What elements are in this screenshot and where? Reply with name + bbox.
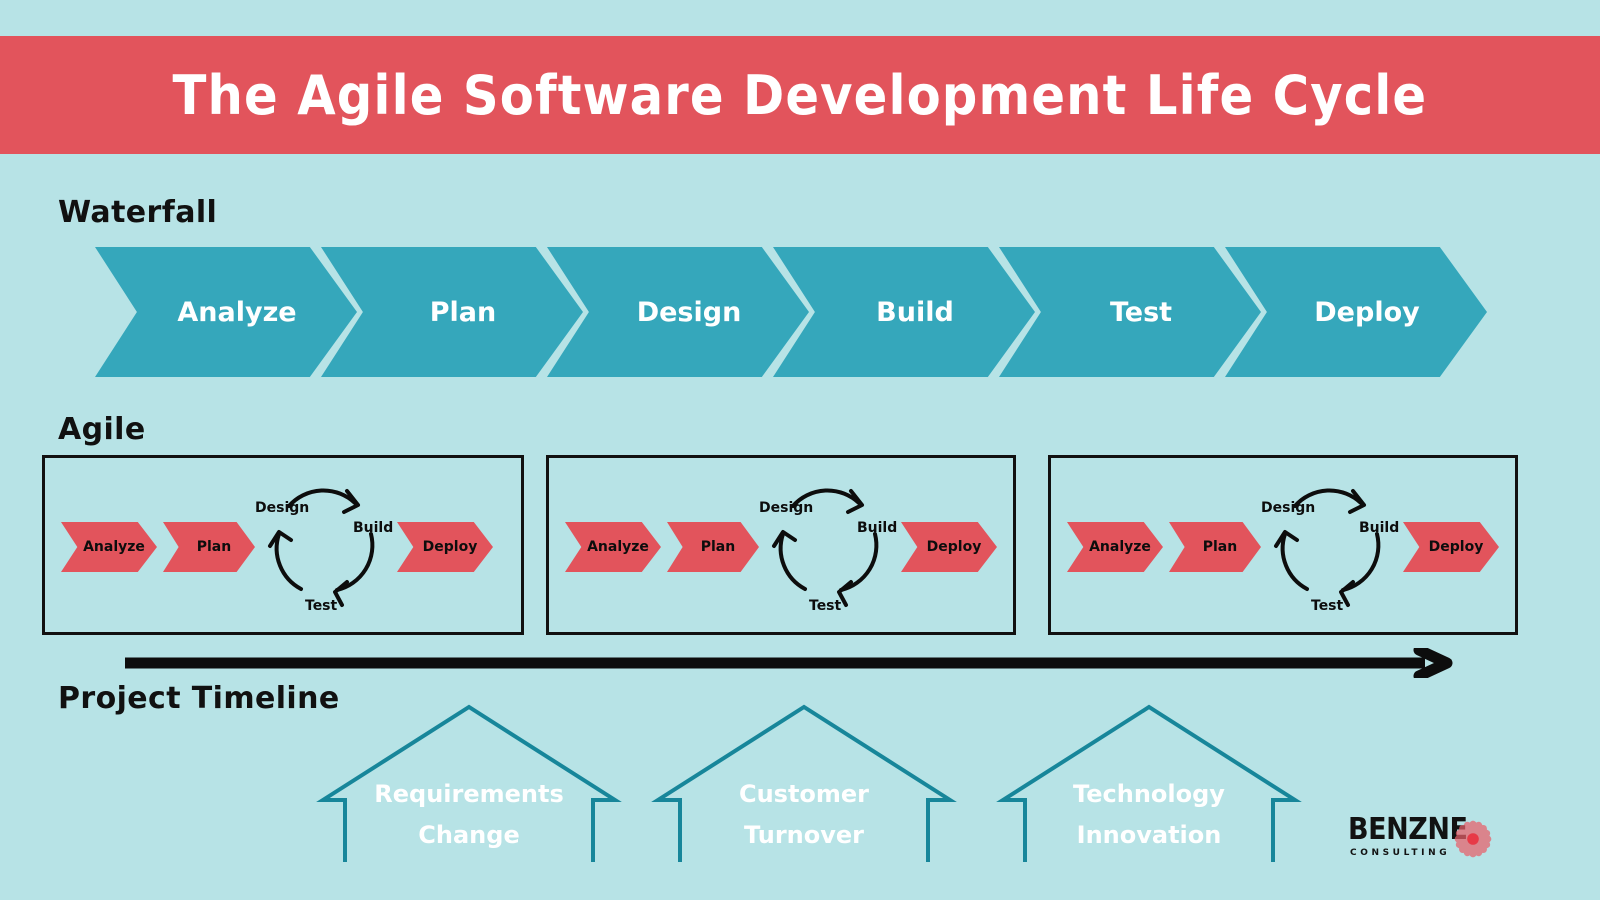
agile-step-label: Deploy: [1419, 539, 1484, 555]
agile-sprint-box[interactable]: Analyze Plan Des: [1048, 455, 1518, 635]
agile-cycle-label-design: Design: [759, 500, 813, 516]
agile-cycle-label-test: Test: [1311, 598, 1343, 614]
agile-step-deploy[interactable]: Deploy: [1403, 522, 1499, 572]
agile-cycle-label-build: Build: [1359, 520, 1399, 536]
agile-step-label: Deploy: [413, 539, 478, 555]
agile-sprint-box[interactable]: Analyze Plan Des: [546, 455, 1016, 635]
agile-step-label: Analyze: [1079, 539, 1151, 555]
waterfall-phase-label: Design: [615, 297, 742, 328]
flower-icon: [1444, 810, 1502, 868]
waterfall-phase-label: Build: [854, 297, 954, 328]
page-title: The Agile Software Development Life Cycl…: [173, 64, 1428, 127]
agile-step-plan[interactable]: Plan: [1169, 522, 1261, 572]
change-driver-arrow-technology-innovation[interactable]: Technology Innovation: [993, 702, 1305, 862]
section-heading-agile: Agile: [58, 412, 146, 447]
agile-iteration-cycle: Design Build Test: [747, 472, 907, 624]
section-heading-project-timeline: Project Timeline: [58, 681, 340, 716]
waterfall-phase-build[interactable]: Build: [773, 247, 1035, 377]
agile-step-label: Deploy: [917, 539, 982, 555]
agile-sprint-inner: Analyze Plan Des: [1051, 458, 1515, 632]
agile-step-analyze[interactable]: Analyze: [1067, 522, 1163, 572]
agile-step-deploy[interactable]: Deploy: [901, 522, 997, 572]
waterfall-phase-label: Plan: [408, 297, 497, 328]
agile-step-deploy[interactable]: Deploy: [397, 522, 493, 572]
agile-step-analyze[interactable]: Analyze: [565, 522, 661, 572]
agile-sprint-inner: Analyze Plan Des: [45, 458, 521, 632]
agile-step-label: Analyze: [577, 539, 649, 555]
project-timeline-arrow: [125, 648, 1465, 678]
brand-logo: BENZNE CONSULTING: [1348, 812, 1538, 874]
agile-step-label: Plan: [691, 539, 735, 555]
agile-iteration-cycle: Design Build Test: [1249, 472, 1409, 624]
agile-step-label: Plan: [1193, 539, 1237, 555]
agile-cycle-label-test: Test: [305, 598, 337, 614]
agile-step-label: Plan: [187, 539, 231, 555]
change-driver-arrow-customer-turnover[interactable]: Customer Turnover: [648, 702, 960, 862]
waterfall-phase-label: Analyze: [155, 297, 296, 328]
agile-cycle-label-build: Build: [857, 520, 897, 536]
agile-cycle-label-design: Design: [1261, 500, 1315, 516]
up-arrow-outline-icon: [648, 702, 960, 862]
agile-iteration-cycle: Design Build Test: [243, 472, 403, 624]
change-driver-arrow-requirements-change[interactable]: Requirements Change: [313, 702, 625, 862]
agile-sprint-box[interactable]: Analyze Plan Des: [42, 455, 524, 635]
infographic-canvas: The Agile Software Development Life Cycl…: [0, 0, 1600, 900]
agile-step-plan[interactable]: Plan: [667, 522, 759, 572]
title-banner: The Agile Software Development Life Cycl…: [0, 36, 1600, 154]
up-arrow-outline-icon: [313, 702, 625, 862]
waterfall-phase-design[interactable]: Design: [547, 247, 809, 377]
section-heading-waterfall: Waterfall: [58, 195, 217, 230]
waterfall-phase-analyze[interactable]: Analyze: [95, 247, 357, 377]
waterfall-phase-test[interactable]: Test: [999, 247, 1261, 377]
agile-cycle-label-design: Design: [255, 500, 309, 516]
waterfall-phase-row: Analyze Plan Design Build Test Deploy: [95, 247, 1485, 377]
waterfall-phase-label: Test: [1088, 297, 1172, 328]
brand-subtitle: CONSULTING: [1350, 848, 1450, 858]
waterfall-phase-deploy[interactable]: Deploy: [1225, 247, 1487, 377]
waterfall-phase-plan[interactable]: Plan: [321, 247, 583, 377]
agile-cycle-label-build: Build: [353, 520, 393, 536]
up-arrow-outline-icon: [993, 702, 1305, 862]
agile-sprint-inner: Analyze Plan Des: [549, 458, 1013, 632]
waterfall-phase-label: Deploy: [1292, 297, 1419, 328]
agile-step-analyze[interactable]: Analyze: [61, 522, 157, 572]
agile-step-plan[interactable]: Plan: [163, 522, 255, 572]
agile-cycle-label-test: Test: [809, 598, 841, 614]
timeline-arrow-icon: [125, 648, 1465, 678]
agile-step-label: Analyze: [73, 539, 145, 555]
